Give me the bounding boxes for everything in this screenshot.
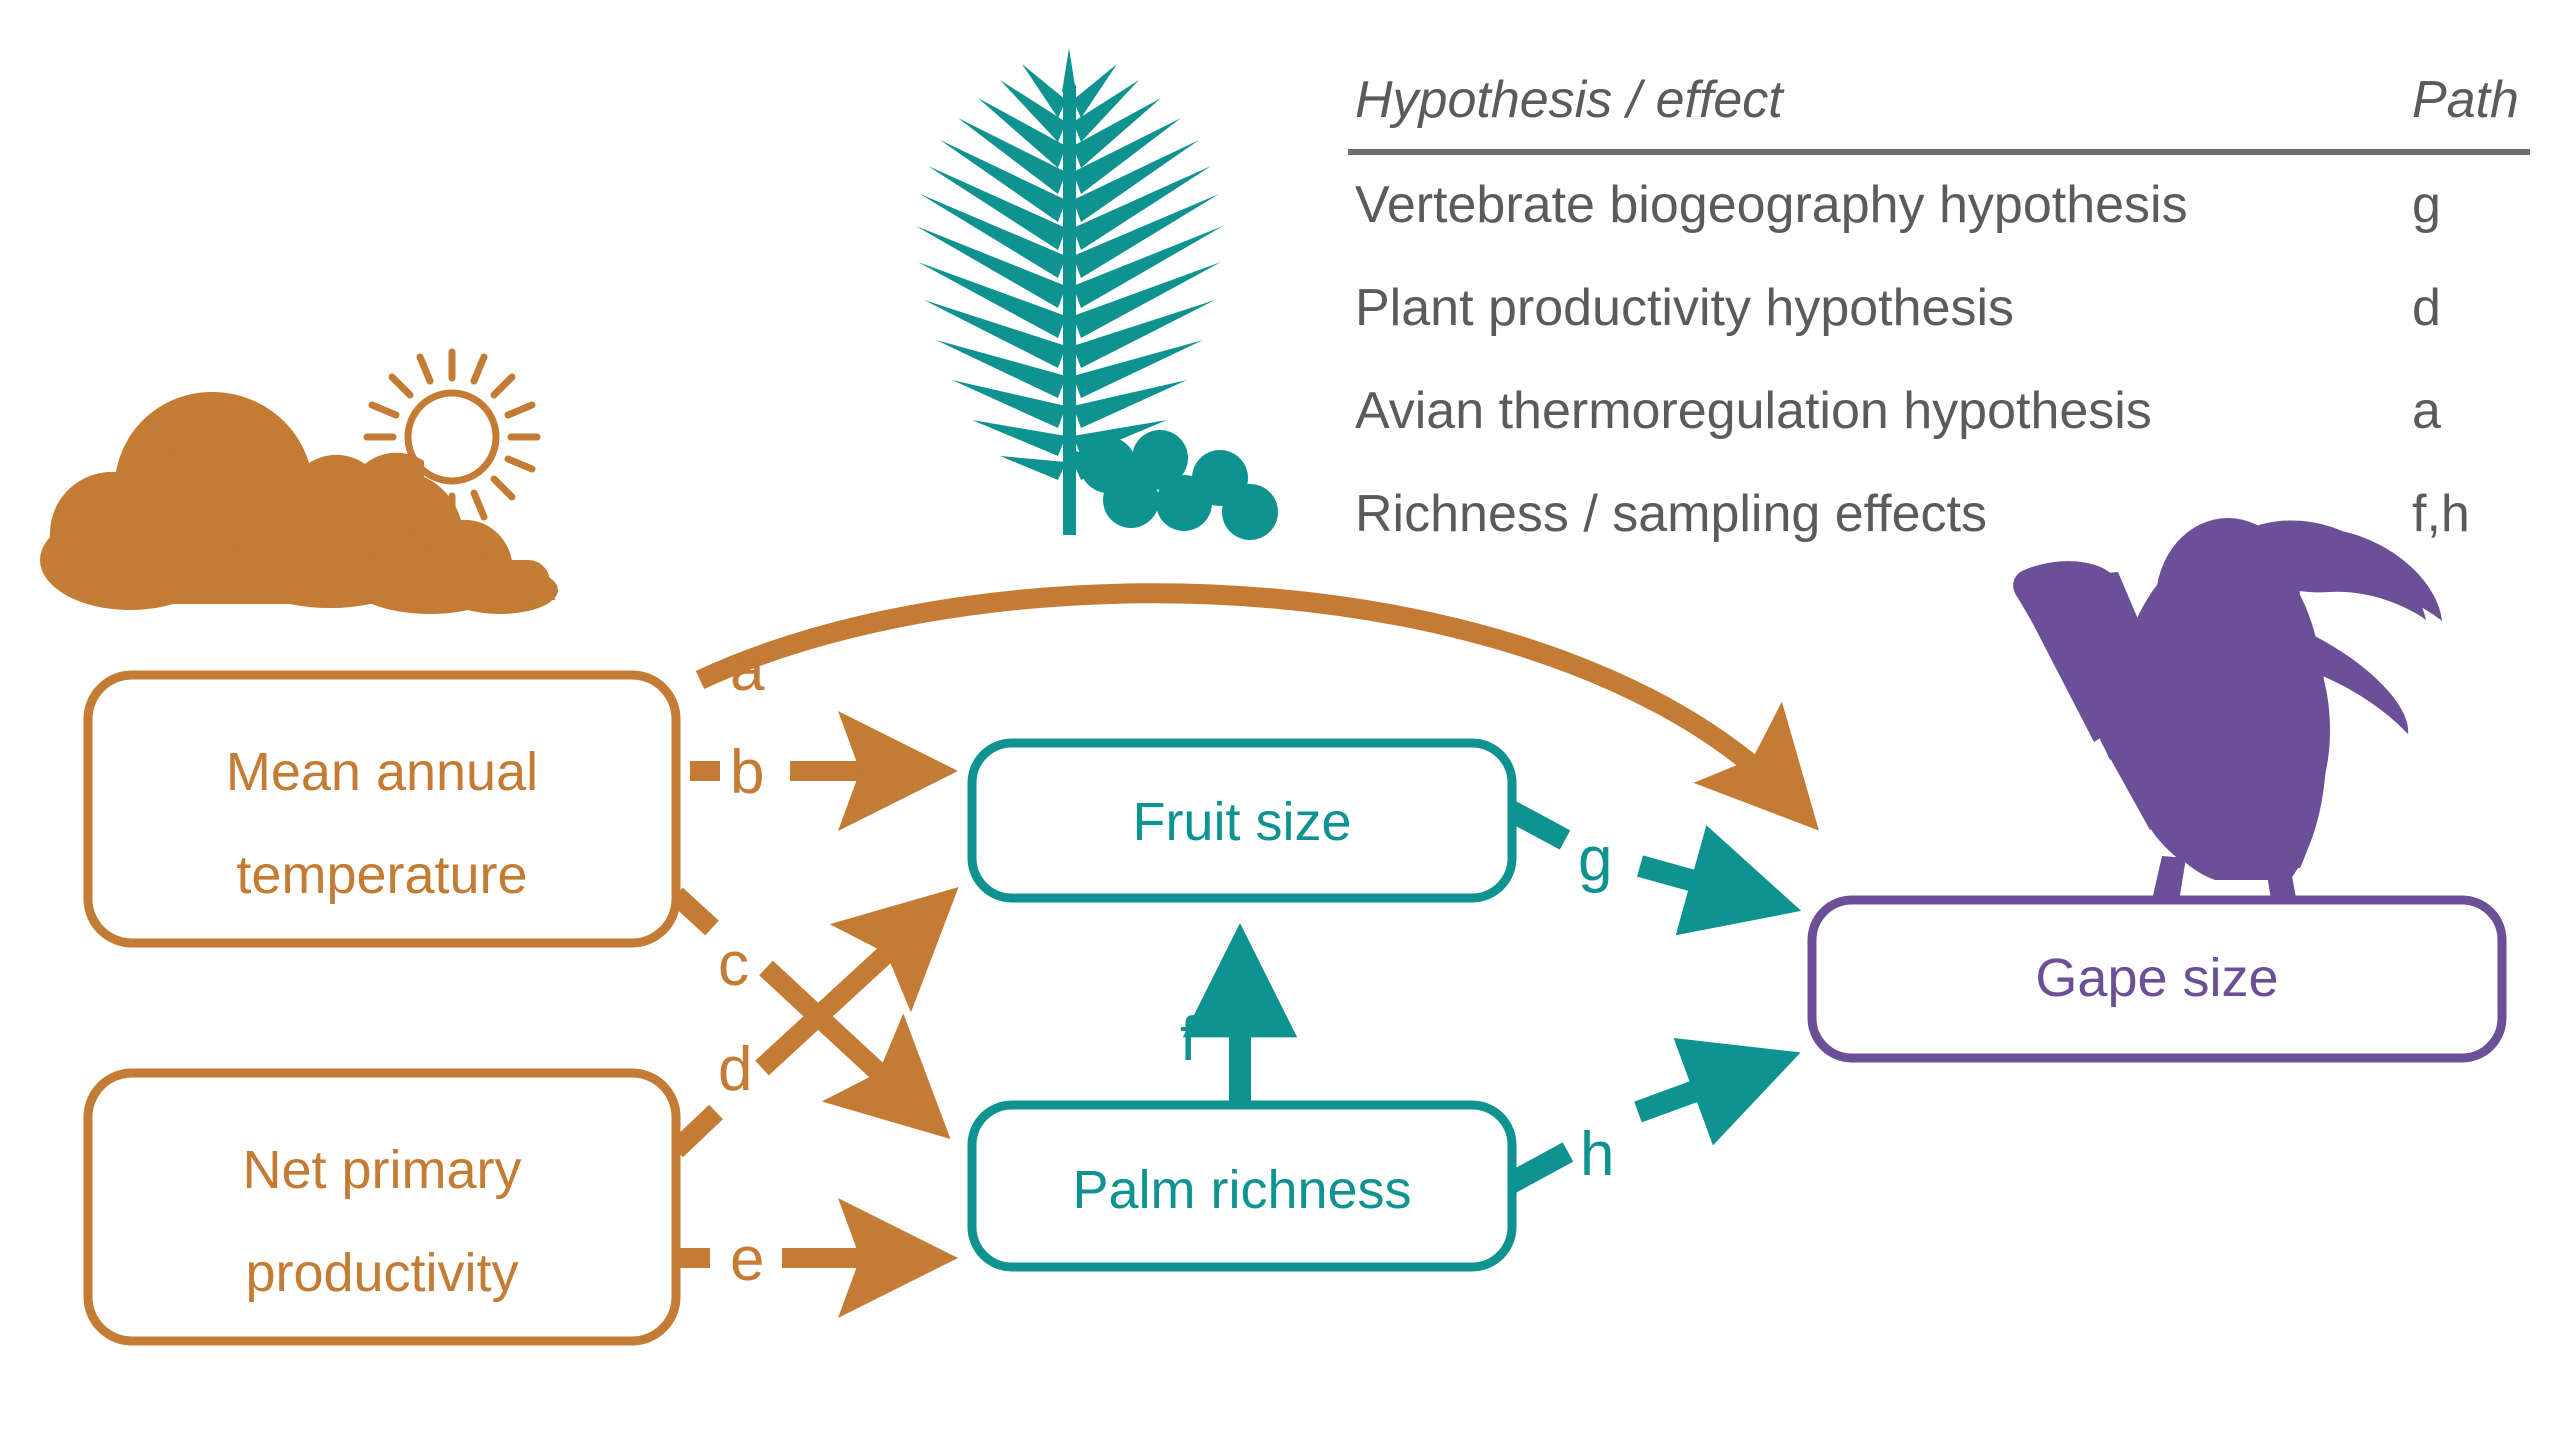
table-cell-hypothesis: Richness / sampling effects: [1355, 485, 1987, 543]
node-gape-size[interactable]: Gape size: [1812, 900, 2502, 1058]
table-cell-path: g: [2412, 176, 2441, 234]
path-label-d: d: [718, 1035, 752, 1104]
node-label-line1: Mean annual: [226, 742, 538, 802]
node-palm-richness[interactable]: Palm richness: [972, 1105, 1512, 1267]
table-header-path: Path: [2412, 71, 2519, 129]
path-label-g: g: [1578, 825, 1612, 894]
path-label-e: e: [730, 1225, 764, 1294]
path-label-c: c: [718, 930, 749, 999]
node-net-primary-productivity[interactable]: Net primary productivity: [88, 1073, 676, 1341]
node-label-line2: temperature: [236, 845, 527, 905]
table-cell-path: f,h: [2412, 485, 2470, 543]
table-cell-path: d: [2412, 279, 2441, 337]
table-cell-hypothesis: Plant productivity hypothesis: [1355, 279, 2014, 337]
table-cell-path: a: [2412, 382, 2441, 440]
node-label: Gape size: [2035, 948, 2278, 1008]
node-fruit-size[interactable]: Fruit size: [972, 743, 1512, 898]
node-label: Palm richness: [1072, 1160, 1411, 1220]
path-label-b: b: [730, 738, 764, 807]
path-label-f: f: [1180, 1005, 1198, 1074]
path-label-a: a: [730, 635, 765, 704]
table-cell-hypothesis: Vertebrate biogeography hypothesis: [1355, 176, 2188, 234]
node-label-line2: productivity: [245, 1243, 518, 1303]
node-label-line1: Net primary: [242, 1140, 521, 1200]
path-label-h: h: [1580, 1120, 1614, 1189]
diagram-canvas: Hypothesis / effect Path Vertebrate biog…: [0, 0, 2560, 1429]
table-cell-hypothesis: Avian thermoregulation hypothesis: [1355, 382, 2152, 440]
table-header-hypothesis: Hypothesis / effect: [1355, 71, 1785, 129]
node-mean-annual-temperature[interactable]: Mean annual temperature: [88, 675, 676, 943]
node-label: Fruit size: [1132, 792, 1351, 852]
